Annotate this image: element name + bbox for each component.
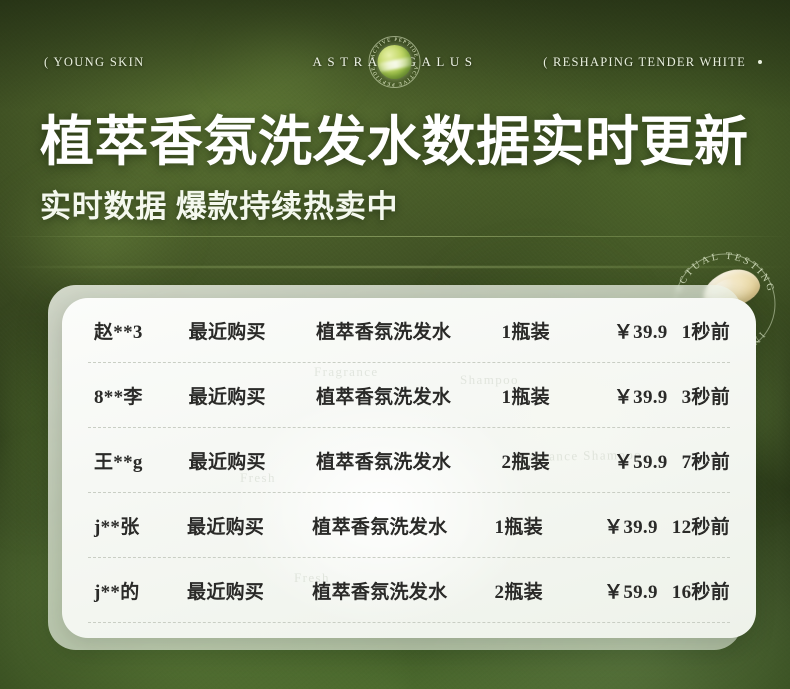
table-row: j**张 最近购买 植萃香氛洗发水 1瓶装 ￥39.9 12秒前 [88,493,730,558]
row-time: 16秒前 [658,577,730,604]
row-action: 最近购买 [187,512,312,539]
promo-poster: ( YOUNG SKIN ( RESHAPING TENDER WHITE AS… [0,0,790,689]
table-row: 赵**3 最近购买 植萃香氛洗发水 1瓶装 ￥39.9 1秒前 [88,298,730,363]
eyebrow-right-label: ( RESHAPING TENDER WHITE [543,55,746,70]
svg-text:ACTIVE PEPTIDE: ACTIVE PEPTIDE [370,65,419,87]
row-price: ￥59.9 [585,447,668,474]
row-spec: 1瓶装 [502,382,585,409]
purchase-feed-card: Fragrance Shampoo Fresh Fragrance Shampo… [62,298,756,638]
row-product: 植萃香氛洗发水 [312,512,494,539]
row-product: 植萃香氛洗发水 [312,577,494,604]
table-row: 8**李 最近购买 植萃香氛洗发水 1瓶装 ￥39.9 3秒前 [88,363,730,428]
brand-badge-icon: ACTIVE PEPTIDE ACTIVE PEPTIDE [367,34,423,90]
row-price: ￥39.9 [585,382,668,409]
eyebrow-left-label: ( YOUNG SKIN [44,55,144,70]
row-user: j**的 [88,577,187,604]
row-time: 3秒前 [668,382,730,409]
row-time: 12秒前 [658,512,730,539]
bullet-dot-icon [758,60,762,64]
row-product: 植萃香氛洗发水 [316,317,501,344]
row-action: 最近购买 [187,577,312,604]
purchase-feed-list: 赵**3 最近购买 植萃香氛洗发水 1瓶装 ￥39.9 1秒前 8**李 最近购… [62,298,756,623]
row-time: 7秒前 [668,447,730,474]
row-price: ￥39.9 [576,512,658,539]
row-product: 植萃香氛洗发水 [316,382,501,409]
row-time: 1秒前 [668,317,730,344]
page-subtitle: 实时数据 爆款持续热卖中 [40,188,398,225]
eyebrow-right-group: ( RESHAPING TENDER WHITE [543,55,762,70]
row-user: 王**g [88,447,189,474]
table-row: 王**g 最近购买 植萃香氛洗发水 2瓶装 ￥59.9 7秒前 [88,428,730,493]
row-user: j**张 [88,512,187,539]
row-product: 植萃香氛洗发水 [316,447,501,474]
table-row: j**的 最近购买 植萃香氛洗发水 2瓶装 ￥59.9 16秒前 [88,558,730,623]
row-price: ￥59.9 [576,577,658,604]
svg-text:ACTIVE PEPTIDE: ACTIVE PEPTIDE [370,37,419,59]
row-user: 8**李 [88,382,189,409]
row-action: 最近购买 [189,317,316,344]
row-price: ￥39.9 [585,317,668,344]
brand-logo: ASTRA ACTIVE PEPTIDE ACTIVE PEPTIDE GALU… [313,34,478,90]
row-user: 赵**3 [88,317,189,344]
row-spec: 1瓶装 [502,317,585,344]
page-title: 植萃香氛洗发水数据实时更新 [40,112,749,172]
row-action: 最近购买 [189,382,316,409]
row-spec: 1瓶装 [495,512,577,539]
row-spec: 2瓶装 [495,577,577,604]
row-spec: 2瓶装 [502,447,585,474]
row-action: 最近购买 [189,447,316,474]
